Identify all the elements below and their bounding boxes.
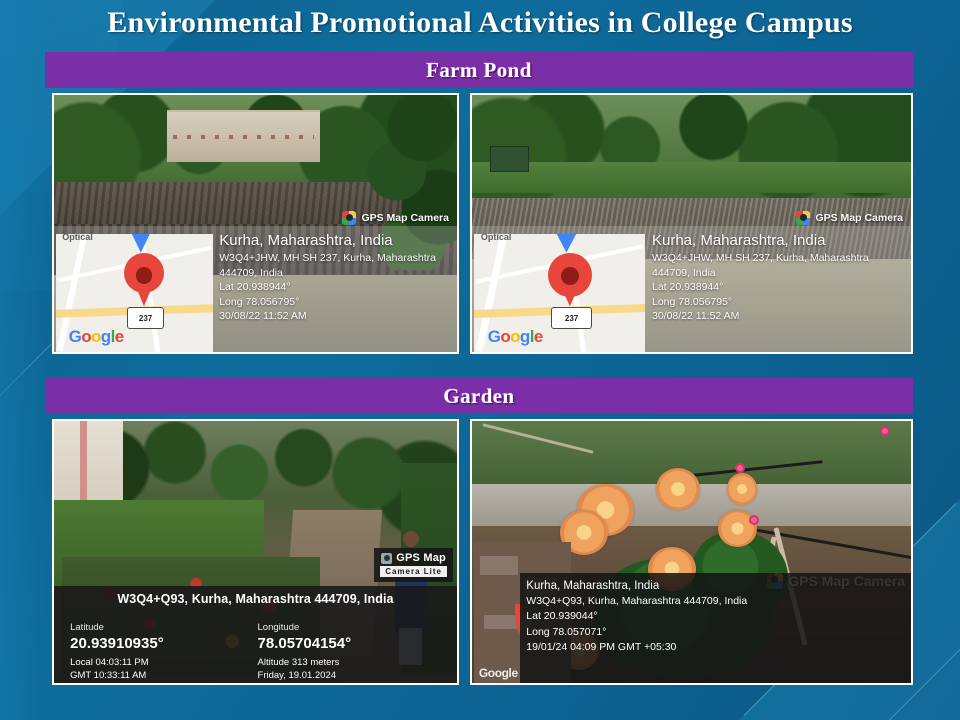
gps-place-name: Kurha, Maharashtra, India: [652, 231, 902, 250]
gps-altitude: Altitude 313 meters: [258, 656, 445, 669]
slide-canvas: Environmental Promotional Activities in …: [0, 0, 960, 720]
gps-address-line-1: W3Q4+JHW, MH SH 237, Kurha, Maharashtra: [219, 251, 449, 266]
gps-map-camera-brand: GPS Map Camera: [342, 211, 449, 225]
map-highway-shield-icon: 237: [551, 307, 592, 329]
map-location-pin-icon: [548, 253, 593, 303]
gps-date: Friday, 19.01.2024: [258, 669, 445, 682]
gps-longitude: Long 78.056795°: [219, 295, 449, 310]
gps-place-name: Kurha, Maharashtra, India: [219, 231, 449, 250]
gps-map-camera-brand-label: GPS Map Camera: [361, 212, 449, 224]
gps-address-line-2: 444709, India: [219, 266, 449, 281]
pink-flower-2: [749, 515, 759, 525]
gps-datetime: 19/01/24 04:09 PM GMT +05:30: [526, 640, 911, 656]
gps-latitude: Lat 20.938944°: [652, 280, 902, 295]
gps-map-camera-lite-badge: GPS Map Camera Lite: [374, 548, 453, 582]
gps-longitude-column: Longitude 78.05704154° Altitude 313 mete…: [258, 621, 445, 682]
gps-longitude-label: Longitude: [258, 621, 445, 634]
gps-latitude: Lat 20.939044°: [526, 609, 911, 625]
gps-map-camera-brand: GPS Map Camera: [796, 211, 903, 225]
photo-farm-pond-right: GPS Map Camera Optical 237 Google: [470, 93, 913, 354]
map-pin-dot: [136, 267, 152, 283]
dahlia-flower-3: [656, 468, 700, 510]
gps-datetime: 30/08/22 11:52 AM: [219, 309, 449, 324]
gps-overlay-farm-pond-left: Optical 237 Google Kurha, Maharashtra, I…: [54, 226, 457, 352]
gps-map-camera-lite-row1: GPS Map: [381, 552, 446, 564]
map-label-optical: Optical: [481, 234, 512, 243]
grass-strip: [472, 162, 911, 193]
gps-gmt-time: GMT 10:33:11 AM: [70, 669, 257, 682]
photo-garden-left: GPS Map Camera Lite W3Q4+Q93, Kurha, Mah…: [52, 419, 459, 685]
gps-address-line-1: W3Q4+Q93, Kurha, Maharashtra 444709, Ind…: [526, 594, 911, 610]
map-block-1: [480, 556, 519, 576]
section-banner-farm-pond-label: Farm Pond: [426, 58, 532, 83]
gps-address-line-2: 444709, India: [652, 266, 902, 281]
google-logo: Google: [488, 327, 543, 347]
gps-latitude-column: Latitude 20.93910935° Local 04:03:11 PM …: [70, 621, 257, 682]
map-location-pin-icon: [124, 253, 165, 303]
gps-coordinate-grid: Latitude 20.93910935° Local 04:03:11 PM …: [70, 621, 445, 682]
gps-map-camera-lite-subtitle: Camera Lite: [380, 566, 447, 577]
gps-longitude: Long 78.057071°: [526, 625, 911, 641]
section-banner-garden-label: Garden: [443, 384, 514, 409]
gps-map-camera-brand-label: GPS Map Camera: [815, 212, 903, 224]
map-pin-dot: [561, 267, 579, 285]
google-map-thumbnail: Optical 237 Google: [474, 234, 645, 352]
gps-local-time: Local 04:03:11 PM: [70, 656, 257, 669]
gps-address-block: Kurha, Maharashtra, India W3Q4+JHW, MH S…: [652, 231, 902, 324]
person-head: [403, 531, 419, 547]
gps-map-camera-icon: [342, 211, 356, 225]
map-label-optical: Optical: [62, 234, 93, 243]
gps-address-line-1: W3Q4+JHW, MH SH 237, Kurha, Maharashtra: [652, 251, 902, 266]
gps-latitude: Lat 20.938944°: [219, 280, 449, 295]
section-banner-garden: Garden: [45, 378, 913, 414]
gps-place-name: Kurha, Maharashtra, India: [526, 578, 911, 594]
gps-longitude: Long 78.056795°: [652, 295, 902, 310]
gps-map-camera-icon: [796, 211, 810, 225]
google-logo: Google: [479, 666, 518, 680]
photo-garden-right: GPS Map Camera Google Kurha, Maharashtra…: [470, 419, 913, 685]
green-signboard: [490, 146, 530, 172]
camera-icon: [381, 553, 392, 564]
map-direction-arrow-icon: [128, 234, 153, 253]
map-highway-shield-icon: 237: [127, 307, 165, 329]
gps-plus-code-address: W3Q4+Q93, Kurha, Maharashtra 444709, Ind…: [54, 592, 457, 606]
page-title: Environmental Promotional Activities in …: [0, 6, 960, 40]
college-building: [167, 110, 320, 161]
gps-map-camera-lite-title: GPS Map: [396, 552, 446, 564]
gps-overlay-farm-pond-right: Optical 237 Google Kurha, Maharashtra, I…: [472, 226, 911, 352]
map-direction-arrow-icon: [553, 234, 580, 253]
gps-datetime: 30/08/22 11:52 AM: [652, 309, 902, 324]
section-banner-farm-pond: Farm Pond: [45, 52, 913, 88]
dahlia-flower-6: [727, 473, 758, 504]
google-logo: Google: [69, 327, 124, 347]
gps-overlay-garden-right: Kurha, Maharashtra, India W3Q4+Q93, Kurh…: [520, 573, 911, 683]
google-map-thumbnail: Optical 237 Google: [56, 234, 213, 352]
gps-latitude-value: 20.93910935°: [70, 634, 257, 653]
gps-longitude-value: 78.05704154°: [258, 634, 445, 653]
gps-latitude-label: Latitude: [70, 621, 257, 634]
gps-address-block: Kurha, Maharashtra, India W3Q4+JHW, MH S…: [219, 231, 449, 324]
gps-overlay-garden-left: W3Q4+Q93, Kurha, Maharashtra 444709, Ind…: [54, 586, 457, 683]
photo-farm-pond-left: GPS Map Camera Optical 237 Google: [52, 93, 459, 354]
